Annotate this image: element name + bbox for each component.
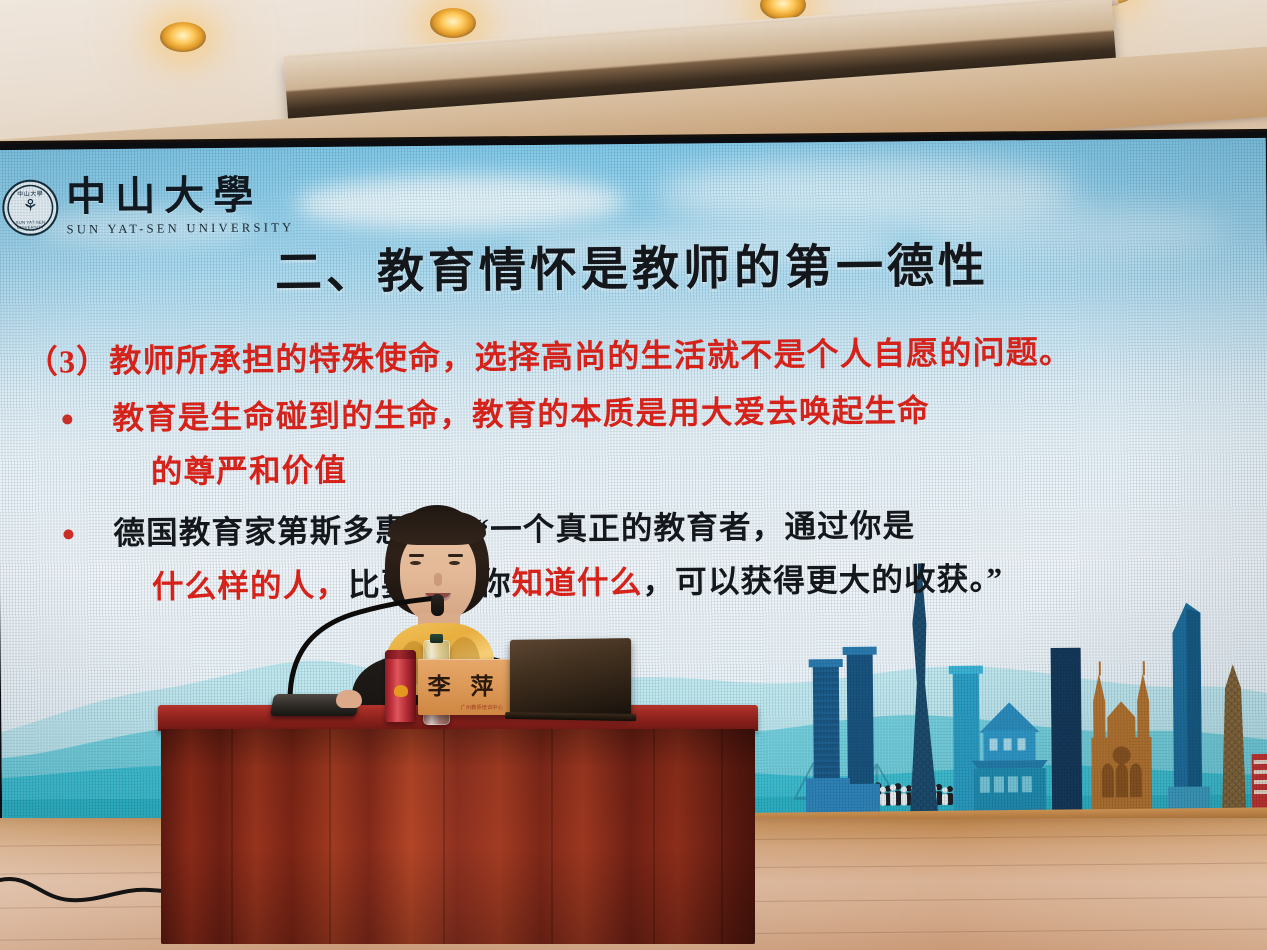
- projector-valance: [284, 0, 1117, 124]
- ceiling-downlight-2: [430, 8, 476, 38]
- bullet-2-text-e: ，可以获得更大的收获。”: [642, 561, 1003, 599]
- lecturer-hand: [336, 690, 362, 708]
- skirt-fold-6: [721, 729, 723, 944]
- bullet-1-text-a: 教育是生命碰到的生命，教育的本质是用大爱去唤起生命: [112, 393, 930, 436]
- lecturer-hair-front: [388, 511, 486, 545]
- sysu-seal-icon: 中山大學 ⚘ SUN YAT-SEN UNIVERSITY: [2, 180, 59, 237]
- logo-chinese-text: 中山大學: [66, 175, 294, 217]
- soffit-light-3: [592, 120, 616, 129]
- red-thermos-cup[interactable]: [385, 650, 416, 722]
- skirt-fold-2: [329, 729, 331, 944]
- name-plate: 李 萍 广州教师培训中心: [418, 659, 510, 715]
- soffit-light-5: [1106, 97, 1130, 106]
- skirt-shading: [161, 729, 755, 944]
- seal-emblem-icon: ⚘: [23, 198, 38, 215]
- guangzhou-skyline-illustration: [800, 560, 1267, 815]
- slide-bullet-2-line-1: 德国教育家第斯多惠说，“一个真正的教育者，通过你是: [27, 507, 1259, 550]
- lecturer-nose: [434, 573, 442, 586]
- lecturer-brow-left: [409, 554, 424, 557]
- soffit-light-4: [860, 109, 884, 118]
- ceiling-downlight-1: [160, 22, 206, 52]
- thermos-lid: [385, 650, 416, 659]
- bullet-dot-icon-1: [62, 414, 72, 424]
- lecturer-eye-right: [449, 561, 460, 565]
- laptop[interactable]: [510, 638, 631, 716]
- seal-bottom-text: SUN YAT-SEN UNIVERSITY: [4, 220, 56, 230]
- bottle-cap: [430, 634, 443, 643]
- slide-title: 二、教育情怀是教师的第一德性: [0, 224, 1267, 305]
- soffit-light-2: [358, 131, 382, 140]
- lecturer-eye-left: [410, 561, 421, 565]
- lecturer-brow-right: [448, 554, 463, 557]
- microphone-capsule: [431, 594, 444, 616]
- ceiling: [0, 0, 1267, 150]
- name-plate-text: 李 萍: [428, 667, 501, 701]
- slide-bullet-1-line-2: 的尊严和价值: [151, 446, 1259, 488]
- thermos-logo-icon: [394, 685, 408, 697]
- skirt-fold-3: [443, 729, 445, 944]
- name-plate-sublogo: 广州教师培训中心: [461, 704, 503, 711]
- bullet-dot-icon-2: [63, 529, 73, 539]
- slide-body: （3）教师所承担的特殊使命，选择高尚的生活就不是个人自愿的问题。 教育是生命碰到…: [26, 334, 1260, 604]
- table-velvet-skirt: [161, 729, 755, 944]
- lecture-hall-photo: 中山大學 ⚘ SUN YAT-SEN UNIVERSITY 中山大學 SUN Y…: [0, 0, 1267, 950]
- skirt-fold-1: [231, 729, 233, 944]
- slide-bullet-1-line-1: 教育是生命碰到的生命，教育的本质是用大爱去唤起生命: [26, 392, 1258, 435]
- university-logo: 中山大學 ⚘ SUN YAT-SEN UNIVERSITY 中山大學 SUN Y…: [2, 175, 295, 238]
- speaker-table: [158, 705, 758, 950]
- skirt-fold-5: [653, 729, 655, 944]
- skirt-fold-4: [551, 729, 553, 944]
